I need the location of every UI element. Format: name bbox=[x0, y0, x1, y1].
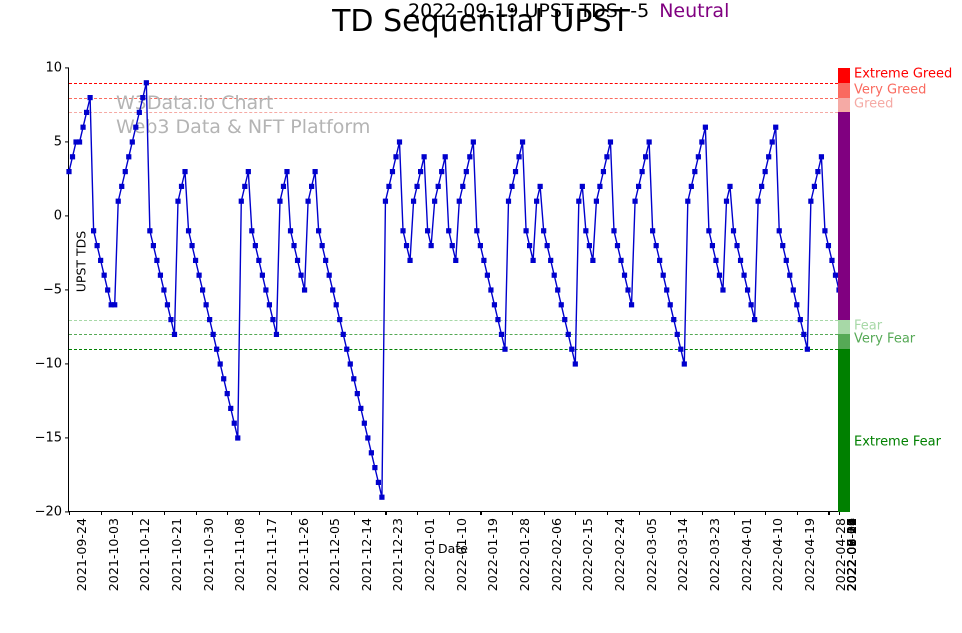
colorbar-segment-very-fear bbox=[838, 334, 850, 349]
series-marker bbox=[189, 243, 194, 248]
series-marker bbox=[239, 199, 244, 204]
series-marker bbox=[182, 169, 187, 174]
series-marker bbox=[756, 199, 761, 204]
series-marker bbox=[263, 287, 268, 292]
series-marker bbox=[70, 154, 75, 159]
y-tick-label: 5 bbox=[27, 135, 69, 150]
colorbar-label: Very Fear bbox=[854, 331, 915, 346]
series-marker bbox=[425, 228, 430, 233]
series-marker bbox=[66, 169, 71, 174]
series-marker bbox=[531, 258, 536, 263]
series-marker bbox=[661, 273, 666, 278]
series-marker bbox=[485, 273, 490, 278]
series-marker bbox=[256, 258, 261, 263]
series-marker bbox=[348, 361, 353, 366]
series-marker bbox=[587, 243, 592, 248]
series-marker bbox=[137, 110, 142, 115]
series-marker bbox=[689, 184, 694, 189]
series-marker bbox=[221, 376, 226, 381]
series-marker bbox=[657, 258, 662, 263]
series-marker bbox=[822, 228, 827, 233]
series-marker bbox=[604, 154, 609, 159]
series-marker bbox=[773, 125, 778, 130]
series-marker bbox=[369, 450, 374, 455]
series-marker bbox=[668, 302, 673, 307]
series-marker bbox=[752, 317, 757, 322]
series-marker bbox=[411, 199, 416, 204]
series-marker bbox=[615, 243, 620, 248]
colorbar-label: Extreme Fear bbox=[854, 435, 941, 450]
colorbar-segment-greed bbox=[838, 98, 850, 113]
series-marker bbox=[495, 317, 500, 322]
series-marker bbox=[168, 317, 173, 322]
series-marker bbox=[165, 302, 170, 307]
series-marker bbox=[523, 228, 528, 233]
series-marker bbox=[538, 184, 543, 189]
colorbar-label: Greed bbox=[854, 96, 893, 111]
series-marker bbox=[474, 228, 479, 233]
series-marker bbox=[218, 361, 223, 366]
series-marker bbox=[710, 243, 715, 248]
series-marker bbox=[284, 169, 289, 174]
series-marker bbox=[745, 287, 750, 292]
series-marker bbox=[731, 228, 736, 233]
series-marker bbox=[647, 139, 652, 144]
series-marker bbox=[534, 199, 539, 204]
series-marker bbox=[509, 184, 514, 189]
series-marker bbox=[379, 495, 384, 500]
series-marker bbox=[622, 273, 627, 278]
colorbar-segment-neutral bbox=[838, 112, 850, 319]
series-marker bbox=[801, 332, 806, 337]
y-axis-label: UPST TDS bbox=[74, 202, 89, 322]
series-marker bbox=[492, 302, 497, 307]
series-marker bbox=[580, 184, 585, 189]
series-marker bbox=[432, 199, 437, 204]
y-tick-label: 10 bbox=[27, 61, 69, 76]
series-marker bbox=[696, 154, 701, 159]
y-tick-label: −5 bbox=[27, 283, 69, 298]
series-marker bbox=[471, 139, 476, 144]
series-marker bbox=[643, 154, 648, 159]
colorbar-segment-fear bbox=[838, 320, 850, 335]
series-marker bbox=[88, 95, 93, 100]
series-marker bbox=[334, 302, 339, 307]
series-marker bbox=[207, 317, 212, 322]
colorbar-segment-extreme-fear bbox=[838, 349, 850, 512]
series-marker bbox=[344, 347, 349, 352]
series-marker bbox=[636, 184, 641, 189]
series-marker bbox=[527, 243, 532, 248]
colorbar-segment-extreme-greed bbox=[838, 68, 850, 83]
series-marker bbox=[678, 347, 683, 352]
series-marker bbox=[443, 154, 448, 159]
series-marker bbox=[260, 273, 265, 278]
series-marker bbox=[84, 110, 89, 115]
series-marker bbox=[734, 243, 739, 248]
series-marker bbox=[794, 302, 799, 307]
series-marker bbox=[632, 199, 637, 204]
series-marker bbox=[119, 184, 124, 189]
series-marker bbox=[777, 228, 782, 233]
series-marker bbox=[123, 169, 128, 174]
series-marker bbox=[158, 273, 163, 278]
series-marker bbox=[829, 258, 834, 263]
series-marker bbox=[573, 361, 578, 366]
series-marker bbox=[147, 228, 152, 233]
series-marker bbox=[763, 169, 768, 174]
series-marker bbox=[383, 199, 388, 204]
series-marker bbox=[270, 317, 275, 322]
series-marker bbox=[77, 139, 82, 144]
series-marker bbox=[355, 391, 360, 396]
series-marker bbox=[112, 302, 117, 307]
series-marker bbox=[502, 347, 507, 352]
series-marker bbox=[362, 421, 367, 426]
series-marker bbox=[720, 287, 725, 292]
series-marker bbox=[404, 243, 409, 248]
series-marker bbox=[692, 169, 697, 174]
series-marker bbox=[376, 480, 381, 485]
series-marker bbox=[566, 332, 571, 337]
series-marker bbox=[407, 258, 412, 263]
series-marker bbox=[204, 302, 209, 307]
series-marker bbox=[713, 258, 718, 263]
series-marker bbox=[436, 184, 441, 189]
series-marker bbox=[281, 184, 286, 189]
series-marker bbox=[246, 169, 251, 174]
series-marker bbox=[766, 154, 771, 159]
series-marker bbox=[499, 332, 504, 337]
series-marker bbox=[91, 228, 96, 233]
series-marker bbox=[390, 169, 395, 174]
series-marker bbox=[253, 243, 258, 248]
series-marker bbox=[780, 243, 785, 248]
tds-series bbox=[69, 68, 839, 512]
series-marker bbox=[186, 228, 191, 233]
series-marker bbox=[815, 169, 820, 174]
series-marker bbox=[559, 302, 564, 307]
series-marker bbox=[154, 258, 159, 263]
series-marker bbox=[386, 184, 391, 189]
series-marker bbox=[175, 199, 180, 204]
series-marker bbox=[685, 199, 690, 204]
chart-root: TD Sequential UPST 2022-09-19 UPST TDS: … bbox=[0, 0, 962, 633]
series-marker bbox=[611, 228, 616, 233]
y-tick-label: −20 bbox=[27, 505, 69, 520]
series-marker bbox=[232, 421, 237, 426]
series-marker bbox=[506, 199, 511, 204]
series-marker bbox=[429, 243, 434, 248]
series-marker bbox=[590, 258, 595, 263]
series-marker bbox=[808, 199, 813, 204]
series-marker bbox=[98, 258, 103, 263]
series-marker bbox=[302, 287, 307, 292]
series-marker bbox=[351, 376, 356, 381]
series-marker bbox=[116, 199, 121, 204]
series-marker bbox=[671, 317, 676, 322]
series-marker bbox=[337, 317, 342, 322]
series-marker bbox=[140, 95, 145, 100]
series-marker bbox=[759, 184, 764, 189]
series-marker bbox=[608, 139, 613, 144]
plot-area: W3Data.io Chart Web3 Data & NFT Platform… bbox=[68, 68, 838, 512]
series-marker bbox=[770, 139, 775, 144]
series-marker bbox=[805, 347, 810, 352]
series-marker bbox=[422, 154, 427, 159]
series-marker bbox=[439, 169, 444, 174]
series-marker bbox=[242, 184, 247, 189]
series-marker bbox=[682, 361, 687, 366]
series-marker bbox=[274, 332, 279, 337]
series-marker bbox=[372, 465, 377, 470]
series-marker bbox=[144, 80, 149, 85]
series-marker bbox=[133, 125, 138, 130]
series-marker bbox=[267, 302, 272, 307]
series-marker bbox=[650, 228, 655, 233]
series-marker bbox=[358, 406, 363, 411]
series-marker bbox=[400, 228, 405, 233]
x-axis-label: Date bbox=[68, 541, 838, 556]
series-marker bbox=[102, 273, 107, 278]
series-marker bbox=[126, 154, 131, 159]
y-tick-label: 0 bbox=[27, 209, 69, 224]
series-marker bbox=[555, 287, 560, 292]
series-marker bbox=[664, 287, 669, 292]
series-marker bbox=[446, 228, 451, 233]
series-marker bbox=[478, 243, 483, 248]
y-tick-label: −15 bbox=[27, 431, 69, 446]
series-marker bbox=[397, 139, 402, 144]
series-marker bbox=[706, 228, 711, 233]
series-marker bbox=[211, 332, 216, 337]
series-marker bbox=[629, 302, 634, 307]
y-tick-label: −10 bbox=[27, 357, 69, 372]
series-marker bbox=[576, 199, 581, 204]
series-marker bbox=[288, 228, 293, 233]
colorbar-label: Extreme Greed bbox=[854, 66, 952, 81]
series-marker bbox=[541, 228, 546, 233]
series-marker bbox=[724, 199, 729, 204]
sentiment-colorbar bbox=[838, 68, 850, 512]
series-marker bbox=[95, 243, 100, 248]
series-marker bbox=[569, 347, 574, 352]
series-marker bbox=[625, 287, 630, 292]
series-marker bbox=[249, 228, 254, 233]
series-marker bbox=[295, 258, 300, 263]
series-marker bbox=[414, 184, 419, 189]
series-marker bbox=[330, 287, 335, 292]
series-marker bbox=[520, 139, 525, 144]
series-marker bbox=[583, 228, 588, 233]
series-marker bbox=[488, 287, 493, 292]
series-marker bbox=[738, 258, 743, 263]
series-marker bbox=[298, 273, 303, 278]
annotation-text: 2022-09-19 UPST TDS: -5 bbox=[408, 0, 649, 22]
series-marker bbox=[228, 406, 233, 411]
series-marker bbox=[214, 347, 219, 352]
series-marker bbox=[727, 184, 732, 189]
series-marker bbox=[717, 273, 722, 278]
series-marker bbox=[313, 169, 318, 174]
series-marker bbox=[105, 287, 110, 292]
x-tick-label: 2022-09-19 bbox=[844, 518, 859, 591]
series-marker bbox=[327, 273, 332, 278]
series-marker bbox=[151, 243, 156, 248]
series-marker bbox=[291, 243, 296, 248]
series-marker bbox=[791, 287, 796, 292]
series-marker bbox=[277, 199, 282, 204]
series-marker bbox=[749, 302, 754, 307]
series-marker bbox=[513, 169, 518, 174]
colorbar-segment-very-greed bbox=[838, 83, 850, 98]
series-marker bbox=[316, 228, 321, 233]
series-marker bbox=[305, 199, 310, 204]
series-marker bbox=[179, 184, 184, 189]
series-marker bbox=[516, 154, 521, 159]
series-marker bbox=[594, 199, 599, 204]
series-marker bbox=[457, 199, 462, 204]
series-marker bbox=[640, 169, 645, 174]
series-marker bbox=[812, 184, 817, 189]
series-marker bbox=[618, 258, 623, 263]
series-marker bbox=[675, 332, 680, 337]
series-marker bbox=[393, 154, 398, 159]
series-marker bbox=[320, 243, 325, 248]
series-marker bbox=[193, 258, 198, 263]
series-marker bbox=[235, 435, 240, 440]
series-marker bbox=[548, 258, 553, 263]
series-marker bbox=[453, 258, 458, 263]
series-marker bbox=[130, 139, 135, 144]
series-marker bbox=[225, 391, 230, 396]
series-marker bbox=[161, 287, 166, 292]
series-marker bbox=[450, 243, 455, 248]
sentiment-label: Neutral bbox=[659, 0, 729, 22]
current-value-annotation: 2022-09-19 UPST TDS: -5Neutral bbox=[408, 0, 729, 22]
series-marker bbox=[467, 154, 472, 159]
series-marker bbox=[654, 243, 659, 248]
series-marker bbox=[460, 184, 465, 189]
series-marker bbox=[365, 435, 370, 440]
series-marker bbox=[481, 258, 486, 263]
series-marker bbox=[418, 169, 423, 174]
series-marker bbox=[196, 273, 201, 278]
series-marker bbox=[826, 243, 831, 248]
series-marker bbox=[741, 273, 746, 278]
series-marker bbox=[323, 258, 328, 263]
series-marker bbox=[309, 184, 314, 189]
series-marker bbox=[819, 154, 824, 159]
series-marker bbox=[784, 258, 789, 263]
series-marker bbox=[341, 332, 346, 337]
series-marker bbox=[562, 317, 567, 322]
series-marker bbox=[172, 332, 177, 337]
series-marker bbox=[597, 184, 602, 189]
series-marker bbox=[787, 273, 792, 278]
series-marker bbox=[80, 125, 85, 130]
series-marker bbox=[552, 273, 557, 278]
series-marker bbox=[464, 169, 469, 174]
series-marker bbox=[798, 317, 803, 322]
series-marker bbox=[699, 139, 704, 144]
series-marker bbox=[601, 169, 606, 174]
series-marker bbox=[545, 243, 550, 248]
series-marker bbox=[703, 125, 708, 130]
series-marker bbox=[200, 287, 205, 292]
